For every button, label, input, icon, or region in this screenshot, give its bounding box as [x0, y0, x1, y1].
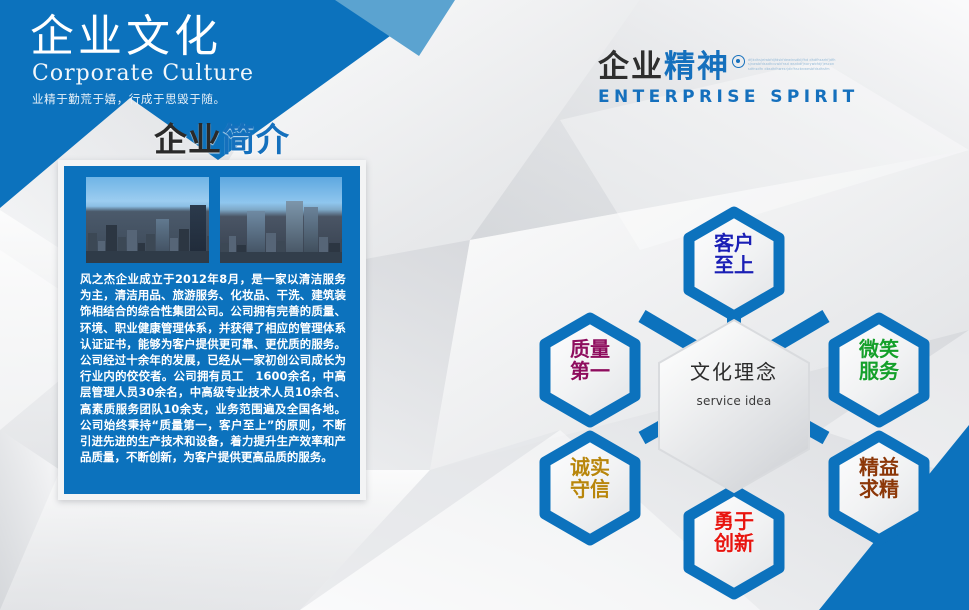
skyscrapers-photo [220, 177, 343, 263]
hex-quality-first [545, 318, 635, 422]
city-skyline-photo [86, 177, 209, 263]
spirit-subtitle: ENTERPRISE SPIRIT [598, 87, 859, 107]
hex-customer-first [689, 212, 779, 316]
culture-hexagon-diagram: 客户至上 质量第一 微笑服务 诚实守信 精益求精 勇于创新 文化理念 servi… [500, 118, 969, 610]
banner-title-cn: 企业文化 [30, 12, 254, 63]
intro-heading-dark: 企业 [154, 120, 222, 159]
banner-text-block: 企业文化 Corporate Culture 业精于勤荒于嬉，行成于思毁于随。 [30, 12, 254, 107]
decorative-microtext: dfjkdhsjeiwbfdjfdskfdewinsdkljfhd dhdfhs… [748, 58, 836, 84]
intro-body-text: 风之杰企业成立于2012年8月，是一家以清洁服务为主，清洁用品、旅游服务、化妆品… [80, 271, 346, 465]
spirit-title-blue: 精神 [664, 49, 730, 85]
spirit-heading-block: 企业精神 ENTERPRISE SPIRIT dfjkdhsjeiwbfdjfd… [598, 50, 859, 107]
intro-heading-blue: 简介 [222, 120, 290, 159]
intro-photo-row [86, 177, 342, 263]
registered-dot-icon [732, 55, 745, 68]
hex-innovation [689, 490, 779, 594]
hex-smile-service [834, 318, 924, 422]
intro-heading: 企业简介 [154, 113, 290, 161]
slide-canvas: 企业文化 Corporate Culture 业精于勤荒于嬉，行成于思毁于随。 … [0, 0, 969, 610]
banner-motto: 业精于勤荒于嬉，行成于思毁于随。 [32, 91, 254, 107]
hex-honest-trust [545, 436, 635, 540]
hex-excellence [834, 436, 924, 540]
banner-title-en: Corporate Culture [32, 61, 254, 86]
spirit-title-dark: 企业 [598, 49, 664, 85]
